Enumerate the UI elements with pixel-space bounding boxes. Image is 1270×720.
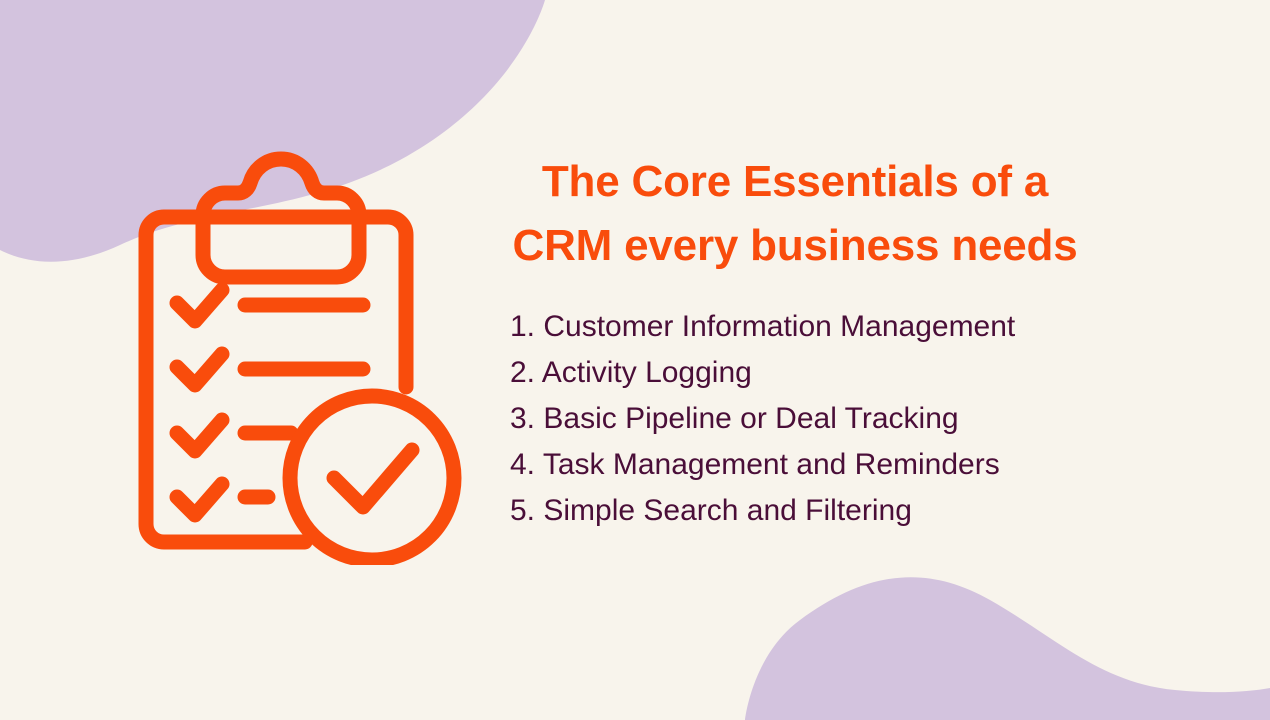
- slide-canvas: The Core Essentials of a CRM every busin…: [0, 0, 1270, 720]
- essentials-list: 1. Customer Information Management 2. Ac…: [455, 304, 1135, 534]
- list-item: 2. Activity Logging: [510, 350, 1135, 396]
- list-item-number: 4.: [510, 448, 535, 481]
- list-item: 1. Customer Information Management: [510, 304, 1135, 350]
- list-item: 3. Basic Pipeline or Deal Tracking: [510, 396, 1135, 442]
- list-item: 4. Task Management and Reminders: [510, 442, 1135, 488]
- checklist-checkmark-4: [177, 484, 222, 515]
- clipboard-board-left-edge: [146, 217, 305, 542]
- purple-blob-bottom-right: [745, 577, 1270, 720]
- list-item-label: Activity Logging: [542, 356, 752, 389]
- list-item: 5. Simple Search and Filtering: [510, 488, 1135, 534]
- list-item-number: 2.: [510, 356, 535, 389]
- list-item-number: 3.: [510, 402, 535, 435]
- checklist-checkmark-3: [177, 420, 222, 451]
- list-item-number: 1.: [510, 310, 535, 343]
- list-item-label: Basic Pipeline or Deal Tracking: [543, 402, 958, 435]
- list-item-label: Task Management and Reminders: [543, 448, 1000, 481]
- clipboard-checklist-icon: [120, 145, 480, 565]
- badge-checkmark-icon: [334, 450, 412, 507]
- checklist-checkmark-1: [177, 290, 222, 321]
- list-item-number: 5.: [510, 494, 535, 527]
- check-circle-badge: [290, 396, 454, 560]
- checklist-checkmark-2: [177, 354, 222, 385]
- page-title: The Core Essentials of a CRM every busin…: [455, 150, 1135, 278]
- text-content-column: The Core Essentials of a CRM every busin…: [455, 150, 1135, 534]
- list-item-label: Simple Search and Filtering: [543, 494, 912, 527]
- list-item-label: Customer Information Management: [543, 310, 1015, 343]
